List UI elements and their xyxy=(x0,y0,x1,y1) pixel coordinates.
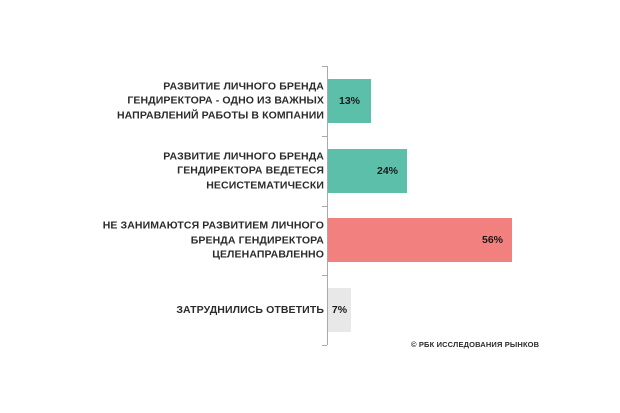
chart-row: РАЗВИТИЕ ЛИЧНОГО БРЕНДА ГЕНДИРЕКТОРА - О… xyxy=(0,66,620,136)
bar-value-label: 24% xyxy=(377,165,398,177)
axis-tick xyxy=(322,206,327,207)
axis-tick xyxy=(322,275,327,276)
bar-chart: РАЗВИТИЕ ЛИЧНОГО БРЕНДА ГЕНДИРЕКТОРА - О… xyxy=(0,0,620,413)
category-label: РАЗВИТИЕ ЛИЧНОГО БРЕНДА ГЕНДИРЕКТОРА ВЕД… xyxy=(74,149,324,193)
chart-row: РАЗВИТИЕ ЛИЧНОГО БРЕНДА ГЕНДИРЕКТОРА ВЕД… xyxy=(0,136,620,206)
bar-value-label: 13% xyxy=(339,95,360,107)
bar-container: 13% xyxy=(328,79,371,123)
chart-plot-area: РАЗВИТИЕ ЛИЧНОГО БРЕНДА ГЕНДИРЕКТОРА - О… xyxy=(0,66,620,345)
copyright-credit: © РБК ИССЛЕДОВАНИЯ РЫНКОВ xyxy=(411,340,539,349)
chart-row: НЕ ЗАНИМАЮТСЯ РАЗВИТИЕМ ЛИЧНОГО БРЕНДА Г… xyxy=(0,206,620,276)
category-label: ЗАТРУДНИЛИСЬ ОТВЕТИТЬ xyxy=(74,303,324,318)
chart-row: ЗАТРУДНИЛИСЬ ОТВЕТИТЬ 7% xyxy=(0,275,620,345)
bar[interactable]: 24% xyxy=(328,149,407,193)
bar-value-label: 56% xyxy=(482,234,503,246)
bar[interactable]: 13% xyxy=(328,79,371,123)
bar-value-label: 7% xyxy=(332,304,347,316)
category-label: РАЗВИТИЕ ЛИЧНОГО БРЕНДА ГЕНДИРЕКТОРА - О… xyxy=(74,79,324,123)
axis-tick xyxy=(322,345,327,346)
bar-container: 56% xyxy=(328,218,512,262)
bar[interactable]: 7% xyxy=(328,288,351,332)
category-label: НЕ ЗАНИМАЮТСЯ РАЗВИТИЕМ ЛИЧНОГО БРЕНДА Г… xyxy=(74,219,324,263)
axis-tick xyxy=(322,136,327,137)
axis-tick xyxy=(322,66,327,67)
bar[interactable]: 56% xyxy=(328,218,512,262)
bar-container: 24% xyxy=(328,149,407,193)
bar-container: 7% xyxy=(328,288,351,332)
